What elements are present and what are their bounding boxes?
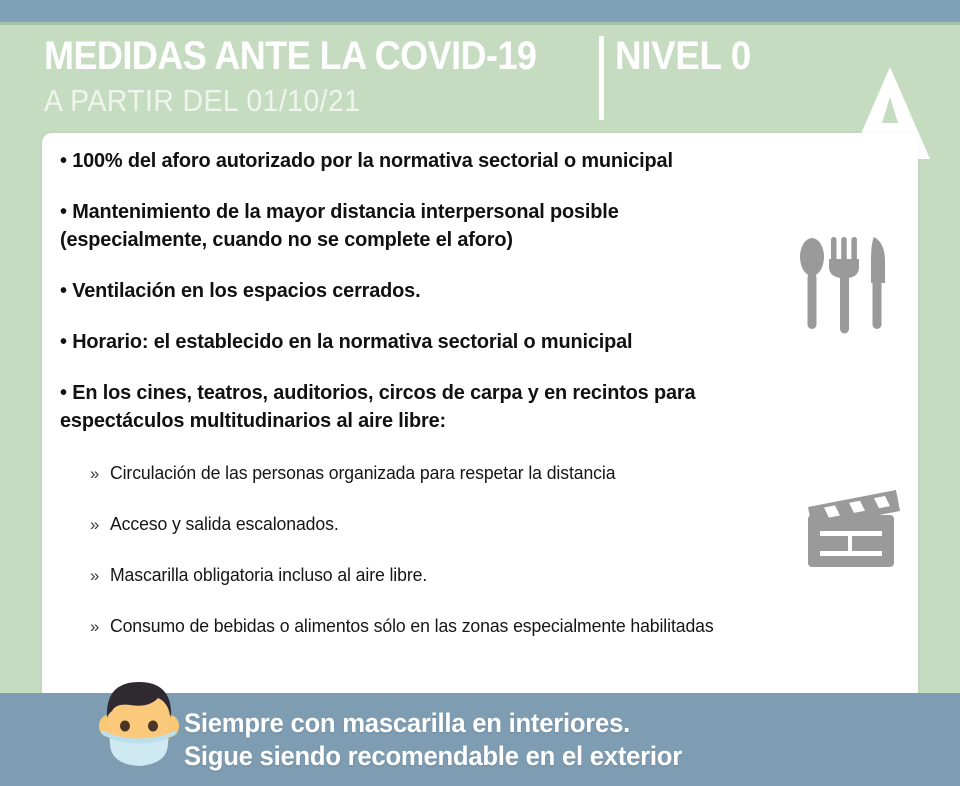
footer-line-1: Siempre con mascarilla en interiores.: [184, 707, 682, 740]
footer-line-2: Sigue siendo recomendable en el exterior: [184, 740, 682, 773]
guillemet-icon: »: [90, 513, 99, 537]
sub-bullet-item: » Acceso y salida escalonados.: [90, 512, 796, 537]
sub-bullet-item: » Circulación de las personas organizada…: [90, 461, 796, 486]
bullet-item: • Horario: el establecido en la normativ…: [60, 328, 758, 356]
footer-message: Siempre con mascarilla en interiores. Si…: [184, 707, 682, 773]
header: MEDIDAS ANTE LA COVID-19 NIVEL 0 A PARTI…: [0, 25, 960, 133]
bullet-item: • Mantenimiento de la mayor distancia in…: [60, 198, 758, 254]
top-accent-strip: [0, 0, 960, 22]
sub-bullet-label: Circulación de las personas organizada p…: [110, 461, 615, 485]
sub-bullet-label: Consumo de bebidas o alimentos sólo en l…: [110, 614, 714, 638]
bullet-item: • 100% del aforo autorizado por la norma…: [60, 147, 758, 175]
sub-bullet-item: » Consumo de bebidas o alimentos sólo en…: [90, 614, 796, 639]
footer-banner: Siempre con mascarilla en interiores. Si…: [0, 693, 960, 786]
page-title: MEDIDAS ANTE LA COVID-19: [44, 33, 536, 79]
page-subtitle: A PARTIR DEL 01/10/21: [44, 83, 360, 119]
sub-bullet-label: Mascarilla obligatoria incluso al aire l…: [110, 563, 427, 587]
guillemet-icon: »: [90, 615, 99, 639]
sub-bullet-item: » Mascarilla obligatoria incluso al aire…: [90, 563, 796, 588]
guillemet-icon: »: [90, 564, 99, 588]
cutlery-icon: [798, 235, 890, 335]
bullet-list: • 100% del aforo autorizado por la norma…: [60, 147, 780, 447]
content-card: • 100% del aforo autorizado por la norma…: [42, 133, 918, 693]
bullet-item: • Ventilación en los espacios cerrados.: [60, 277, 758, 305]
sub-bullet-label: Acceso y salida escalonados.: [110, 512, 339, 536]
level-title: NIVEL 0: [615, 33, 751, 79]
bullet-item: • En los cines, teatros, auditorios, cir…: [60, 379, 758, 435]
clapperboard-icon: [802, 485, 902, 580]
title-divider: [599, 36, 604, 120]
face-with-medical-mask-icon: [96, 672, 182, 768]
guillemet-icon: »: [90, 462, 99, 486]
sub-bullet-list: » Circulación de las personas organizada…: [90, 461, 810, 665]
